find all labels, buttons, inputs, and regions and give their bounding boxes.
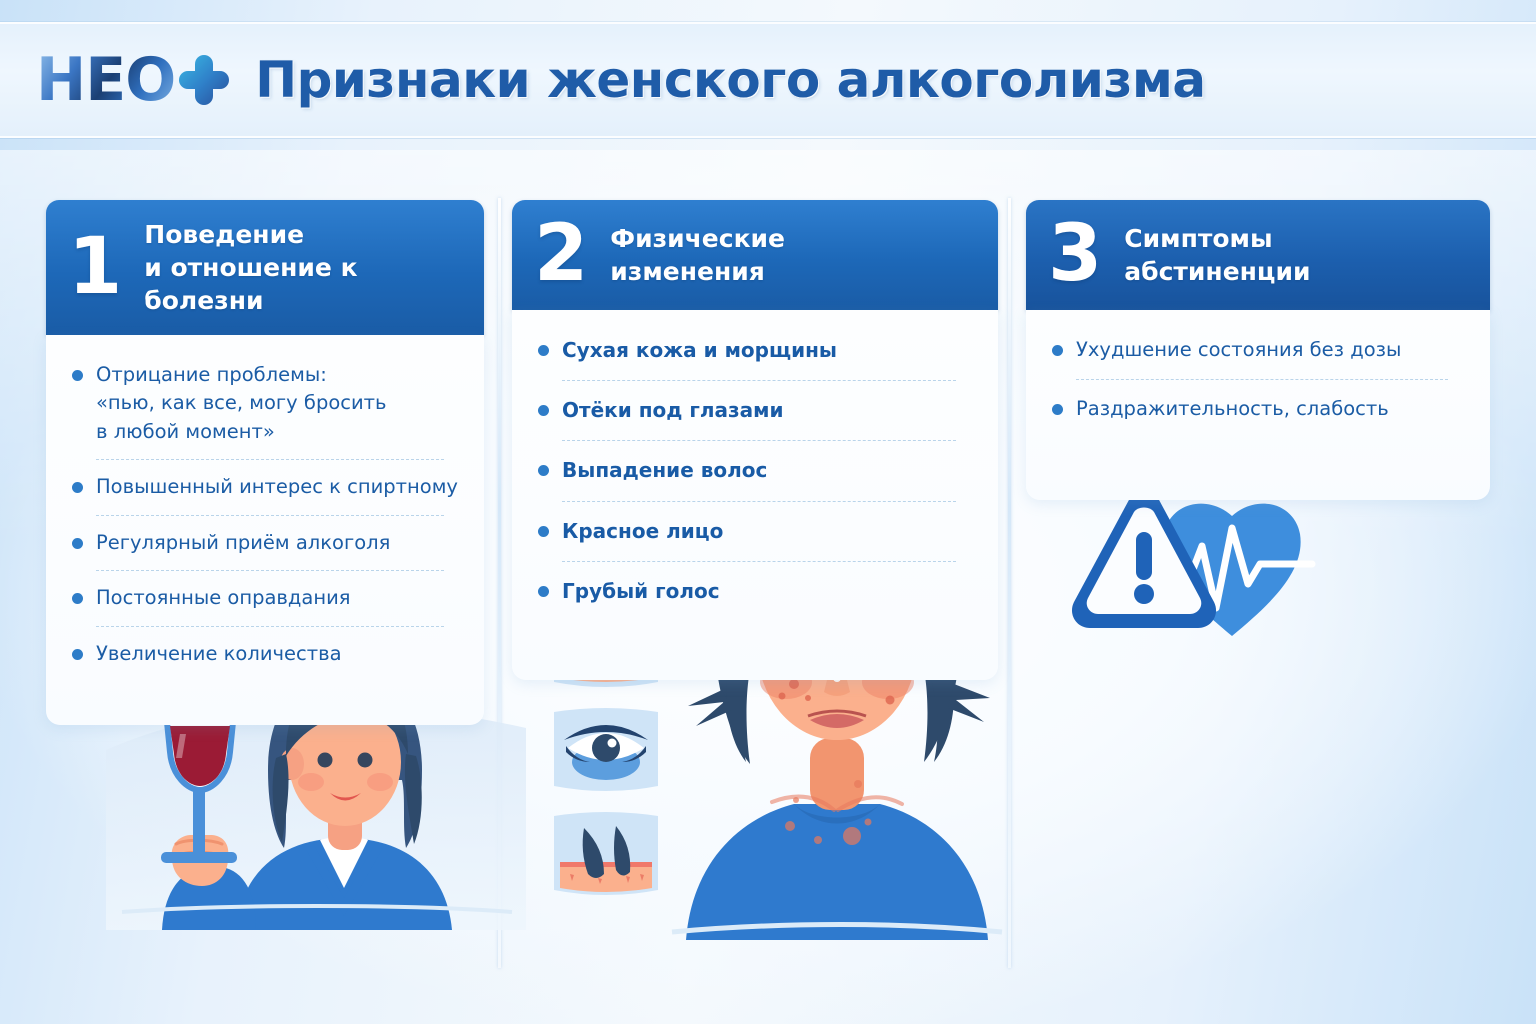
warning-heart-svg xyxy=(1056,480,1356,660)
bullet-text: Увеличение количества xyxy=(96,642,342,665)
card-title-2-line2: изменения xyxy=(610,255,785,288)
brand-logo: НЕО xyxy=(36,50,229,110)
eye-with-bags-icon xyxy=(554,708,658,791)
bullet-dot-icon xyxy=(72,593,83,604)
cards-container: 1 Поведение и отношение к болезни Отрица… xyxy=(0,198,1536,998)
bullet-dot-icon xyxy=(1052,345,1063,356)
bullet-separator xyxy=(562,501,956,502)
card-title-2: Физические изменения xyxy=(610,222,785,288)
list-item: Постоянные оправдания xyxy=(68,584,462,626)
bullet-text: Отёки под глазами xyxy=(562,398,783,422)
card-header-3: 3 Симптомы абстиненции xyxy=(1026,200,1490,310)
list-item: Отёки под глазами xyxy=(534,396,976,441)
bullet-text: Красное лицо xyxy=(562,519,723,543)
card-title-3: Симптомы абстиненции xyxy=(1124,222,1310,288)
card-title-3-line2: абстиненции xyxy=(1124,255,1310,288)
card-title-1: Поведение и отношение к болезни xyxy=(144,218,464,317)
list-item: Ухудшение состояния без дозы xyxy=(1048,336,1468,380)
bullet-dot-icon xyxy=(72,538,83,549)
list-item: Грубый голос xyxy=(534,577,976,606)
bullet-text: Ухудшение состояния без дозы xyxy=(1076,338,1401,361)
bullet-dot-icon xyxy=(1052,404,1063,415)
bullet-text: Отрицание проблемы: «пью, как все, могу … xyxy=(96,363,387,443)
card-body-3: Ухудшение состояния без дозы Раздражител… xyxy=(1026,310,1490,500)
card-number-3: 3 xyxy=(1048,223,1102,287)
bullet-text: Регулярный приём алкоголя xyxy=(96,531,390,554)
card-title-1-line1: Поведение xyxy=(144,218,464,251)
hair-loss-icon xyxy=(554,812,658,895)
list-item: Выпадение волос xyxy=(534,456,976,501)
bullet-text: Повышенный интерес к спиртному xyxy=(96,475,458,498)
bullet-text: Грубый голос xyxy=(562,579,720,603)
plus-icon xyxy=(179,55,229,105)
bullet-dot-icon xyxy=(538,465,549,476)
card-number-1: 1 xyxy=(68,236,122,300)
bullet-text: Раздражительность, слабость xyxy=(1076,397,1389,420)
card-number-2: 2 xyxy=(534,223,588,287)
bullet-separator xyxy=(562,440,956,441)
bullet-dot-icon xyxy=(538,586,549,597)
card-body-2: Сухая кожа и морщины Отёки под глазами В… xyxy=(512,310,998,680)
list-item: Повышенный интерес к спиртному xyxy=(68,473,462,515)
bullet-dot-icon xyxy=(538,526,549,537)
card-withdrawal-symptoms: 3 Симптомы абстиненции Ухудшение состоян… xyxy=(1026,200,1490,500)
brand-logo-text: НЕО xyxy=(36,50,175,110)
page-header: НЕО Признаки женского алкоголизма xyxy=(0,22,1536,138)
bullet-separator xyxy=(96,515,444,516)
bullet-dot-icon xyxy=(72,482,83,493)
list-item: Регулярный приём алкоголя xyxy=(68,529,462,571)
bullet-list-3: Ухудшение состояния без дозы Раздражител… xyxy=(1048,336,1468,424)
card-body-1: Отрицание проблемы: «пью, как все, могу … xyxy=(46,335,484,725)
bullet-dot-icon xyxy=(72,649,83,660)
bullet-text: Постоянные оправдания xyxy=(96,586,351,609)
bullet-text: Выпадение волос xyxy=(562,458,767,482)
bullet-dot-icon xyxy=(538,345,549,356)
bullet-list-1: Отрицание проблемы: «пью, как все, могу … xyxy=(68,361,462,668)
bullet-separator xyxy=(562,380,956,381)
card-title-1-line2: и отношение к болезни xyxy=(144,251,464,317)
bullet-separator xyxy=(96,626,444,627)
card-behavior: 1 Поведение и отношение к болезни Отрица… xyxy=(46,200,484,725)
bullet-separator xyxy=(96,570,444,571)
bullet-separator xyxy=(96,459,444,460)
page-title: Признаки женского алкоголизма xyxy=(255,51,1205,109)
card-header-2: 2 Физические изменения xyxy=(512,200,998,310)
list-item: Увеличение количества xyxy=(68,640,462,668)
list-item: Сухая кожа и морщины xyxy=(534,336,976,381)
illustration-warning-and-heartbeat xyxy=(1056,480,1356,660)
bullet-dot-icon xyxy=(538,405,549,416)
card-header-1: 1 Поведение и отношение к болезни xyxy=(46,200,484,335)
list-item: Отрицание проблемы: «пью, как все, могу … xyxy=(68,361,462,460)
bullet-dot-icon xyxy=(72,370,83,381)
list-item: Раздражительность, слабость xyxy=(1048,395,1468,423)
bullet-text: Сухая кожа и морщины xyxy=(562,338,837,362)
bullet-separator xyxy=(1076,379,1448,380)
list-item: Красное лицо xyxy=(534,517,976,562)
card-title-2-line1: Физические xyxy=(610,222,785,255)
bullet-separator xyxy=(562,561,956,562)
card-physical-changes: 2 Физические изменения Сухая кожа и морщ… xyxy=(512,200,998,680)
bullet-list-2: Сухая кожа и морщины Отёки под глазами В… xyxy=(534,336,976,606)
card-title-3-line1: Симптомы xyxy=(1124,222,1310,255)
